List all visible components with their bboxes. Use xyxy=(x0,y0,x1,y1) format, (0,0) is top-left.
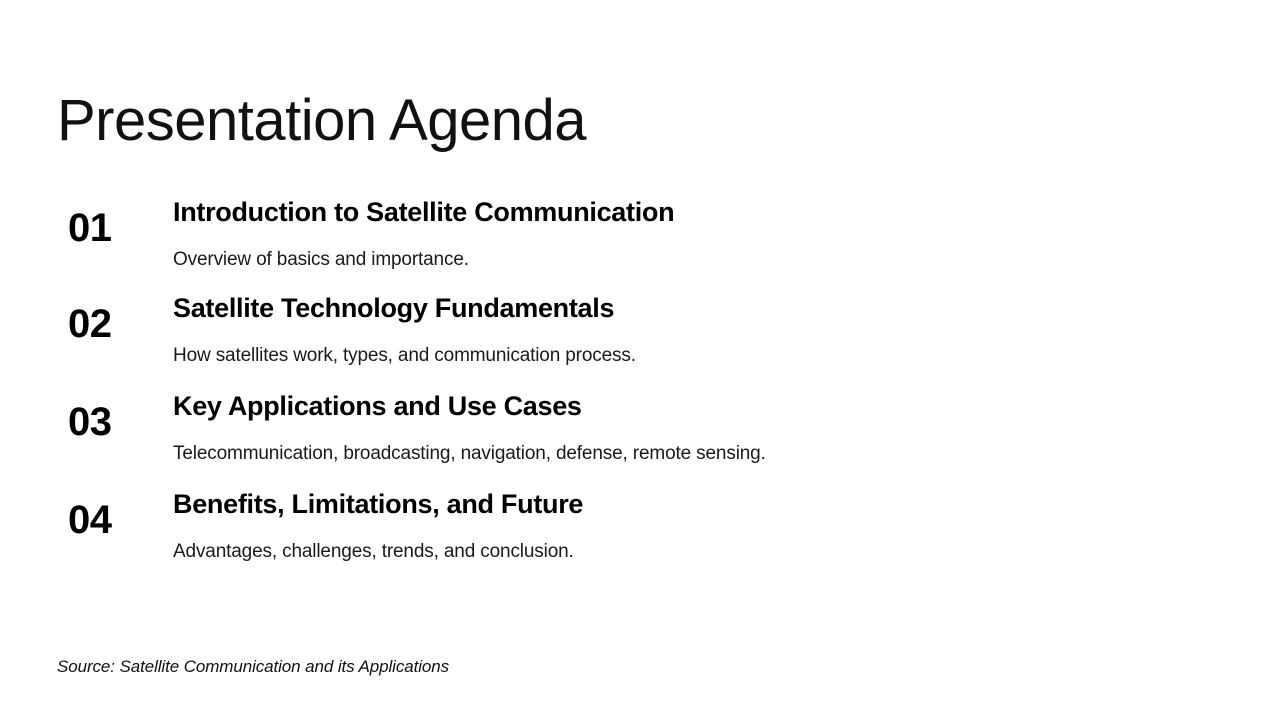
source-note: Source: Satellite Communication and its … xyxy=(57,657,449,677)
agenda-item-number: 04 xyxy=(68,500,168,540)
agenda-item[interactable]: 04 Benefits, Limitations, and Future Adv… xyxy=(57,488,1217,586)
agenda-item-description: Telecommunication, broadcasting, navigat… xyxy=(173,442,1217,467)
agenda-item[interactable]: 03 Key Applications and Use Cases Teleco… xyxy=(57,390,1217,488)
agenda-item-heading: Key Applications and Use Cases xyxy=(173,390,1217,424)
agenda-item-body: Satellite Technology Fundamentals How sa… xyxy=(173,292,1217,368)
agenda-item-description: How satellites work, types, and communic… xyxy=(173,344,1217,369)
agenda-item-number: 03 xyxy=(68,402,168,442)
page-title: Presentation Agenda xyxy=(57,91,586,152)
agenda-item-body: Key Applications and Use Cases Telecommu… xyxy=(173,390,1217,466)
agenda-item[interactable]: 02 Satellite Technology Fundamentals How… xyxy=(57,292,1217,390)
agenda-item-heading: Benefits, Limitations, and Future xyxy=(173,488,1217,522)
agenda-item-heading: Introduction to Satellite Communication xyxy=(173,196,1217,230)
agenda-item-body: Introduction to Satellite Communication … xyxy=(173,196,1217,272)
agenda-item-body: Benefits, Limitations, and Future Advant… xyxy=(173,488,1217,564)
agenda-item-number: 01 xyxy=(68,208,168,248)
agenda-list: 01 Introduction to Satellite Communicati… xyxy=(57,196,1217,586)
agenda-item-description: Advantages, challenges, trends, and conc… xyxy=(173,540,1217,565)
agenda-item-heading: Satellite Technology Fundamentals xyxy=(173,292,1217,326)
agenda-item[interactable]: 01 Introduction to Satellite Communicati… xyxy=(57,196,1217,292)
presentation-slide: Presentation Agenda 01 Introduction to S… xyxy=(0,0,1280,720)
agenda-item-number: 02 xyxy=(68,304,168,344)
agenda-item-description: Overview of basics and importance. xyxy=(173,248,1217,273)
